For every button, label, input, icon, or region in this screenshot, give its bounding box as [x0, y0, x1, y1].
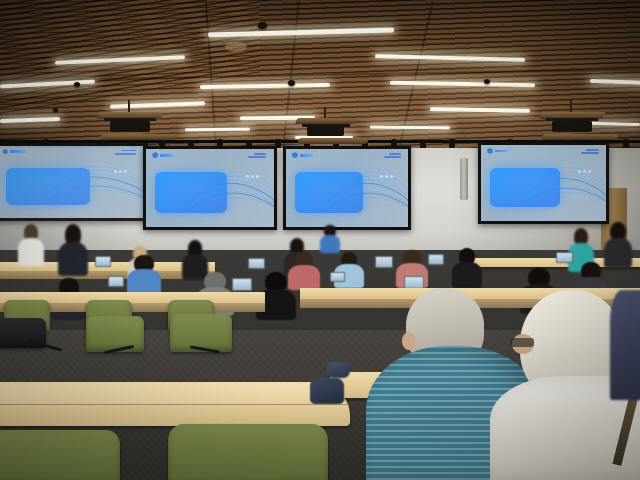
- hexagon-brand-logo: [152, 152, 174, 158]
- slide-title-card: [295, 172, 363, 213]
- linear-fluorescent-tube: [185, 128, 250, 132]
- desk-seam: [0, 404, 350, 405]
- screen-center: [283, 146, 411, 230]
- slide-title-card: [6, 168, 90, 205]
- wall-mounted-speaker: [460, 158, 468, 200]
- logo-wordmark: [300, 154, 313, 157]
- logo-wordmark: [495, 150, 509, 153]
- seated-person-plaid: [288, 252, 320, 290]
- slide-accent-dots: [114, 170, 127, 173]
- event-date-corner-text: [384, 153, 401, 160]
- open-laptop[interactable]: [95, 256, 111, 267]
- projector-body: [307, 126, 344, 136]
- projector-lower-shelf: [297, 138, 368, 144]
- standing-person-white-shirt: [18, 224, 44, 266]
- partial-person-right-edge: [610, 290, 640, 400]
- foreground-chair-right[interactable]: [168, 424, 328, 480]
- person-torso: [452, 262, 482, 288]
- backpack-on-floor[interactable]: [310, 378, 344, 404]
- open-laptop[interactable]: [108, 276, 124, 287]
- woman-glasses: [510, 338, 534, 347]
- screen-left: [143, 146, 277, 230]
- ceiling-speaker: [484, 79, 490, 84]
- slide-canvas: [146, 149, 274, 227]
- slide-canvas: [286, 149, 408, 227]
- presenter-front-blue: [320, 225, 340, 253]
- ceiling-speaker: [74, 82, 80, 87]
- screen-left-far: [0, 143, 148, 221]
- projector-lower-shelf: [99, 134, 176, 140]
- seated-person-blue-shirt: [127, 255, 161, 295]
- hexagon-brand-logo: [3, 149, 27, 155]
- hexagon-brand-logo: [487, 148, 508, 154]
- open-laptop[interactable]: [375, 256, 393, 268]
- person-torso: [320, 235, 340, 253]
- seated-person-dark-right: [452, 248, 482, 288]
- open-laptop[interactable]: [428, 254, 444, 265]
- hexagon-icon: [152, 152, 158, 158]
- event-date-corner-text: [581, 149, 599, 156]
- person-torso: [18, 238, 44, 266]
- person-torso: [604, 238, 632, 268]
- open-laptop[interactable]: [330, 272, 345, 282]
- lecture-hall-chair[interactable]: [86, 316, 144, 352]
- hexagon-icon: [3, 149, 8, 155]
- slide-accent-dots: [578, 170, 591, 173]
- hexagon-icon: [487, 148, 492, 154]
- open-laptop[interactable]: [556, 252, 573, 263]
- slide-title-card: [490, 168, 560, 208]
- slide-title-card: [155, 172, 227, 213]
- logo-wordmark: [160, 154, 174, 157]
- projector-body: [110, 121, 150, 132]
- slide-canvas: [0, 146, 145, 218]
- ceiling-speaker: [53, 108, 58, 112]
- hexagon-brand-logo: [292, 152, 313, 158]
- foreground-chair-left[interactable]: [0, 430, 120, 480]
- ceiling-speaker: [288, 80, 295, 86]
- open-laptop[interactable]: [232, 278, 252, 291]
- slide-canvas: [481, 145, 606, 221]
- backpack-strap: [326, 362, 350, 378]
- slide-accent-dots: [246, 175, 259, 178]
- person-torso: [288, 265, 320, 290]
- standing-person-navy: [58, 224, 88, 276]
- slide-accent-dots: [380, 175, 393, 178]
- event-date-corner-text: [248, 153, 266, 160]
- projector-body: [552, 121, 592, 132]
- event-date-corner-text: [115, 150, 136, 157]
- man-ear: [402, 332, 416, 350]
- person-torso: [58, 242, 88, 276]
- screen-right: [478, 142, 609, 224]
- logo-wordmark: [10, 150, 27, 153]
- projector-lower-shelf: [541, 134, 618, 140]
- open-laptop[interactable]: [248, 258, 265, 269]
- hexagon-icon: [292, 152, 298, 158]
- standing-person-right-edge: [604, 222, 632, 268]
- lecture-hall-photo: [0, 0, 640, 480]
- seated-person-light-blue: [334, 252, 364, 288]
